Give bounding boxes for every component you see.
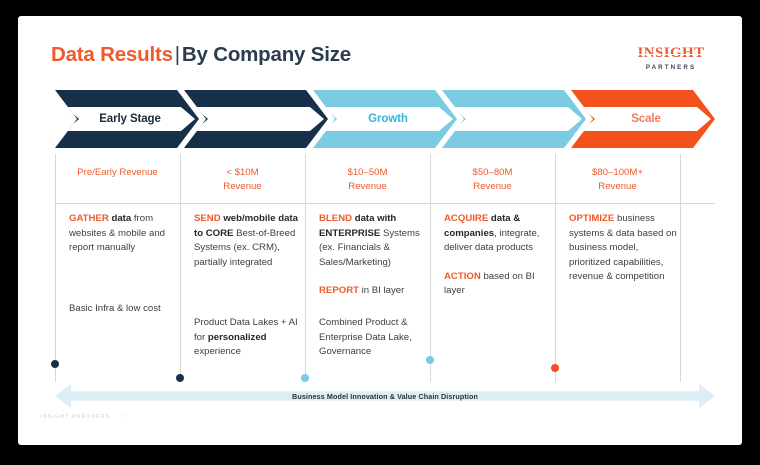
keyword-highlight: BLEND: [319, 213, 352, 224]
column-footnote-text: Product Data Lakes + AI for personalized…: [194, 316, 306, 360]
column-footnote-text: Combined Product & Enterprise Data Lake,…: [319, 316, 431, 360]
revenue-label: $50–80M Revenue: [430, 166, 555, 194]
stage-column-3: $10–50M RevenueBLEND data with ENTERPRIS…: [305, 154, 430, 382]
revenue-label: $80–100M+ Revenue: [555, 166, 680, 194]
keyword-highlight: SEND: [194, 213, 221, 224]
bottom-arrow-label: Business Model Innovation & Value Chain …: [55, 384, 715, 408]
column-body-text: SEND web/mobile data to CORE Best-of-Bre…: [194, 212, 302, 270]
paragraph-gap: [444, 256, 552, 270]
column-footnote-text: Basic Infra & low cost: [69, 302, 181, 317]
slide-footer: INSIGHT PARTNERS •: [40, 414, 126, 420]
column-body-text: GATHER data from websites & mobile and r…: [69, 212, 177, 256]
stage-column-4: $50–80M RevenueACQUIRE data & companies,…: [430, 154, 555, 382]
keyword-highlight: REPORT: [319, 285, 359, 296]
column-endpoint-dot: [426, 356, 434, 364]
column-endpoint-dot: [176, 374, 184, 382]
text-run: personalized: [208, 332, 267, 343]
keyword-highlight: ACTION: [444, 271, 481, 282]
stage-chevron-5: Scale: [571, 90, 715, 148]
column-divider-right-edge: [680, 154, 681, 382]
stage-columns: Pre/Early RevenueGATHER data from websit…: [55, 154, 715, 382]
logo-brand: INSIGHT: [638, 45, 705, 62]
stage-label: Growth: [368, 113, 408, 125]
column-body-text: ACQUIRE data & companies, integrate, del…: [444, 212, 552, 299]
stage-label: Scale: [631, 113, 661, 125]
text-run: experience: [194, 346, 241, 357]
insight-partners-logo: INSIGHT PARTNERS: [628, 44, 714, 71]
keyword-highlight: GATHER: [69, 213, 109, 224]
stage-column-2: < $10M RevenueSEND web/mobile data to CO…: [180, 154, 305, 382]
chevron-inner-arrow: Early Stage: [65, 107, 195, 131]
revenue-label: $10–50M Revenue: [305, 166, 430, 194]
title-accent: Data Results: [51, 43, 173, 66]
logo-subtitle: PARTNERS: [628, 64, 714, 71]
keyword-highlight: ACQUIRE: [444, 213, 488, 224]
footer-mark-icon: •: [124, 414, 126, 420]
page-title: Data Results|By Company Size: [51, 43, 351, 67]
column-endpoint-dot: [51, 360, 59, 368]
title-separator: |: [173, 43, 182, 66]
chevron-inner-arrow: Growth: [323, 107, 453, 131]
stage-chevron-2: [184, 90, 328, 148]
chevron-inner-arrow: [194, 107, 324, 131]
stage-chevron-1: Early Stage: [55, 90, 199, 148]
stage-label: Early Stage: [99, 113, 161, 125]
footer-brand: INSIGHT PARTNERS: [40, 414, 110, 420]
keyword-highlight: OPTIMIZE: [569, 213, 614, 224]
column-body-text: OPTIMIZE business systems & data based o…: [569, 212, 677, 285]
revenue-label: < $10M Revenue: [180, 166, 305, 194]
text-run: data: [109, 213, 131, 224]
stage-column-1: Pre/Early RevenueGATHER data from websit…: [55, 154, 180, 382]
text-run: Basic Infra & low cost: [69, 303, 161, 314]
column-divider: [55, 154, 56, 382]
screenshot-frame: Data Results|By Company Size INSIGHT PAR…: [0, 0, 760, 465]
stage-column-5: $80–100M+ RevenueOPTIMIZE business syste…: [555, 154, 680, 382]
stage-chevron-3: Growth: [313, 90, 457, 148]
stage-chevron-band: Early StageGrowthScale: [55, 90, 715, 148]
chevron-inner-arrow: [452, 107, 582, 131]
paragraph-gap: [319, 270, 427, 284]
chevron-inner-arrow: Scale: [581, 107, 711, 131]
column-endpoint-dot: [301, 374, 309, 382]
bottom-arrow-band: Business Model Innovation & Value Chain …: [55, 384, 715, 408]
column-body-text: BLEND data with ENTERPRISE Systems (ex. …: [319, 212, 427, 299]
text-run: in BI layer: [359, 285, 404, 296]
column-endpoint-dot: [551, 364, 559, 372]
stage-chevron-4: [442, 90, 586, 148]
title-rest: By Company Size: [182, 43, 351, 66]
slide-canvas: Data Results|By Company Size INSIGHT PAR…: [18, 16, 742, 445]
revenue-label: Pre/Early Revenue: [55, 166, 180, 180]
text-run: Combined Product & Enterprise Data Lake,…: [319, 317, 412, 357]
